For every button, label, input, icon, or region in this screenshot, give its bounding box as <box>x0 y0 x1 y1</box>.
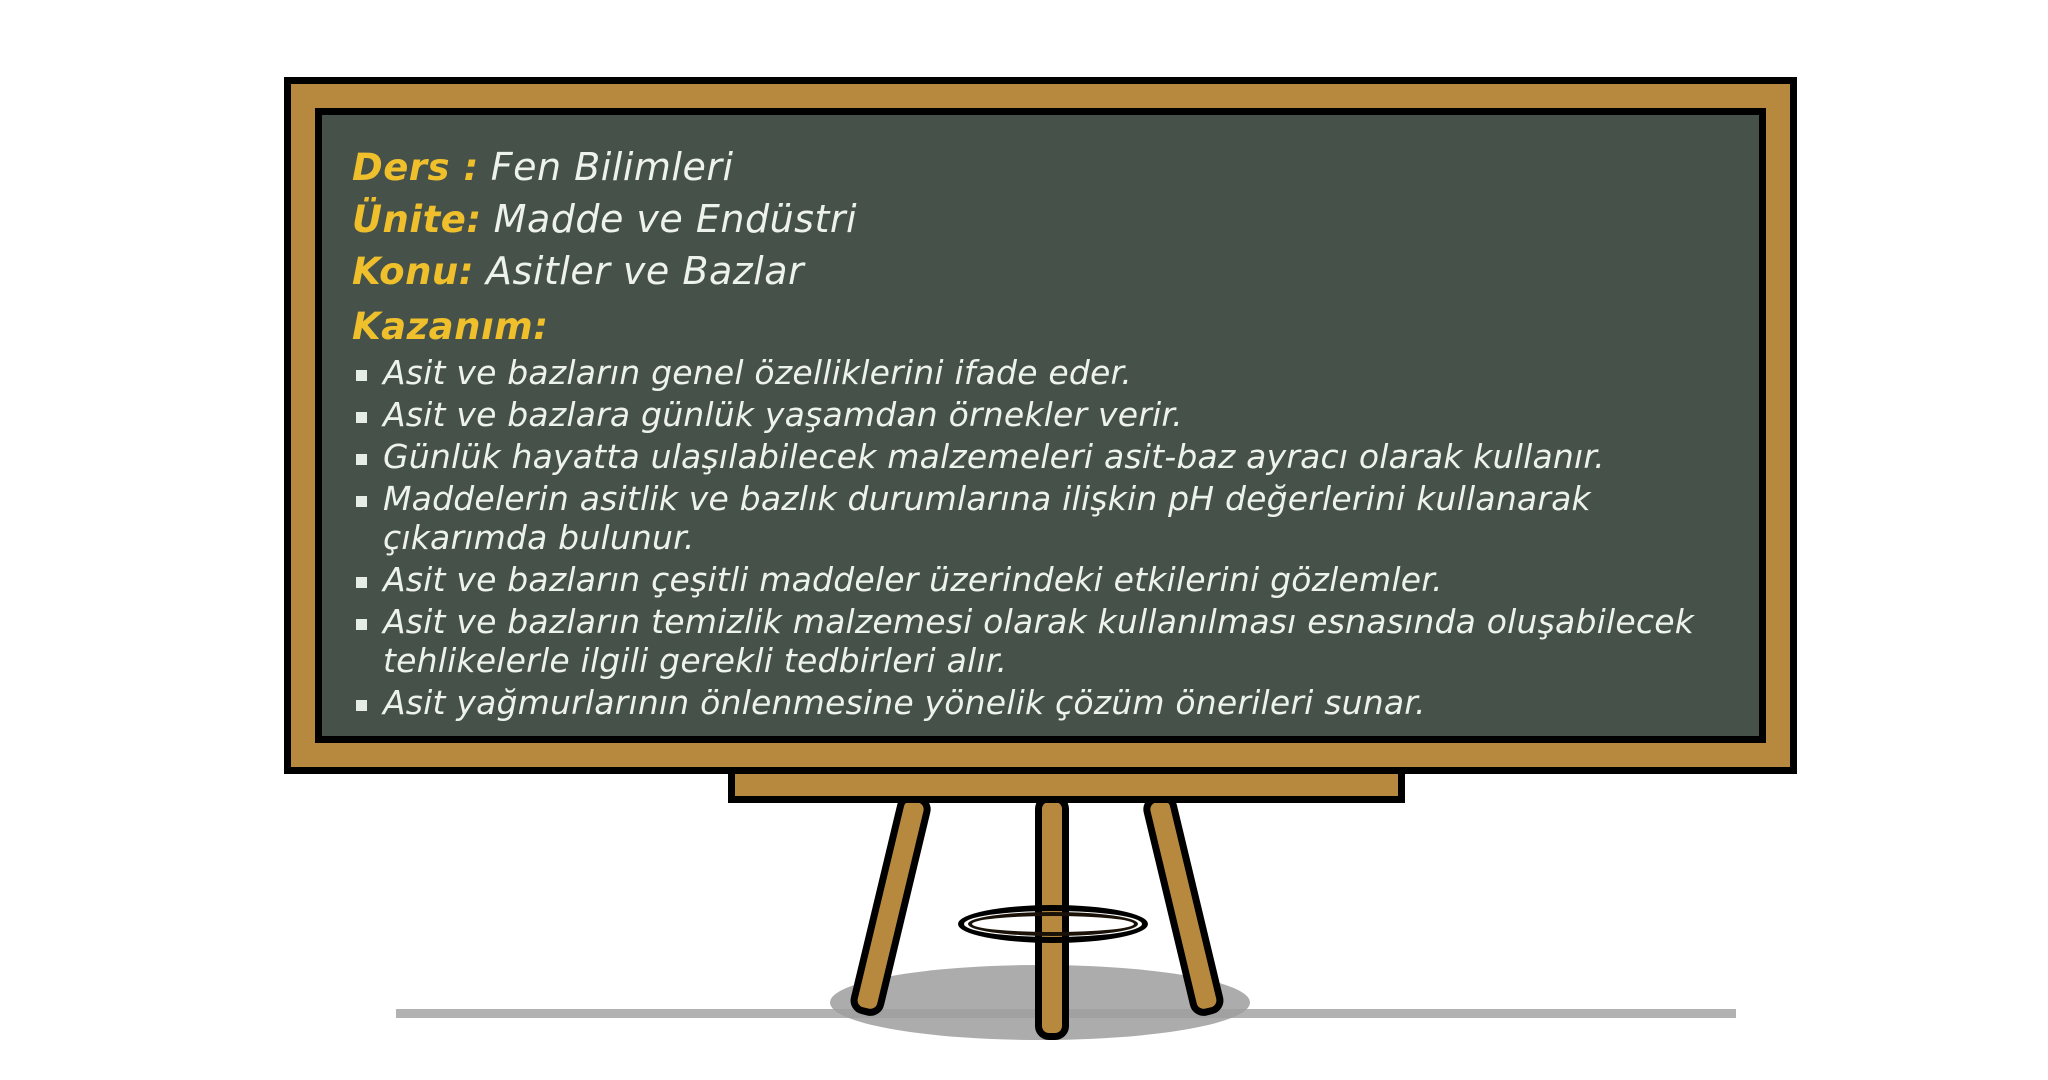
blackboard-frame: Ders : Fen Bilimleri Ünite: Madde ve End… <box>284 77 1797 774</box>
square-bullet-icon <box>356 496 367 507</box>
square-bullet-icon <box>356 454 367 465</box>
square-bullet-icon <box>356 370 367 381</box>
list-item: Maddelerin asitlik ve bazlık durumlarına… <box>352 480 1729 558</box>
easel-ring-brace-inner <box>968 912 1138 936</box>
lesson-row: Ders : Fen Bilimleri <box>352 145 1729 189</box>
objective-text: Asit ve bazların temizlik malzemesi olar… <box>383 603 1728 681</box>
blackboard-surface: Ders : Fen Bilimleri Ünite: Madde ve End… <box>315 108 1766 743</box>
list-item: Asit ve bazlara günlük yaşamdan örnekler… <box>352 396 1729 435</box>
list-item: Asit ve bazların genel özelliklerini ifa… <box>352 354 1729 393</box>
objective-text: Günlük hayatta ulaşılabilecek malzemeler… <box>383 438 1605 477</box>
objectives-list: Asit ve bazların genel özelliklerini ifa… <box>352 354 1729 722</box>
topic-row: Konu: Asitler ve Bazlar <box>352 249 1729 293</box>
lesson-label: Ders : <box>352 146 479 189</box>
objectives-heading: Kazanım: <box>352 305 1729 348</box>
square-bullet-icon <box>356 619 367 630</box>
unit-label: Ünite: <box>352 198 482 241</box>
objective-text: Asit ve bazların genel özelliklerini ifa… <box>383 354 1132 393</box>
unit-value: Madde ve Endüstri <box>494 197 857 241</box>
lesson-value: Fen Bilimleri <box>491 145 734 189</box>
objective-text: Asit yağmurlarının önlenmesine yönelik ç… <box>383 684 1426 723</box>
objective-text: Asit ve bazlara günlük yaşamdan örnekler… <box>383 396 1183 435</box>
square-bullet-icon <box>356 577 367 588</box>
blackboard-content: Ders : Fen Bilimleri Ünite: Madde ve End… <box>322 115 1759 736</box>
list-item: Asit yağmurlarının önlenmesine yönelik ç… <box>352 684 1729 723</box>
objective-text: Asit ve bazların çeşitli maddeler üzerin… <box>383 561 1443 600</box>
objective-text: Maddelerin asitlik ve bazlık durumlarına… <box>383 480 1728 558</box>
list-item: Asit ve bazların temizlik malzemesi olar… <box>352 603 1729 681</box>
list-item: Asit ve bazların çeşitli maddeler üzerin… <box>352 561 1729 600</box>
unit-row: Ünite: Madde ve Endüstri <box>352 197 1729 241</box>
slide-canvas: Ders : Fen Bilimleri Ünite: Madde ve End… <box>0 0 2048 1080</box>
topic-label: Konu: <box>352 250 474 293</box>
list-item: Günlük hayatta ulaşılabilecek malzemeler… <box>352 438 1729 477</box>
square-bullet-icon <box>356 412 367 423</box>
topic-value: Asitler ve Bazlar <box>486 249 804 293</box>
square-bullet-icon <box>356 700 367 711</box>
